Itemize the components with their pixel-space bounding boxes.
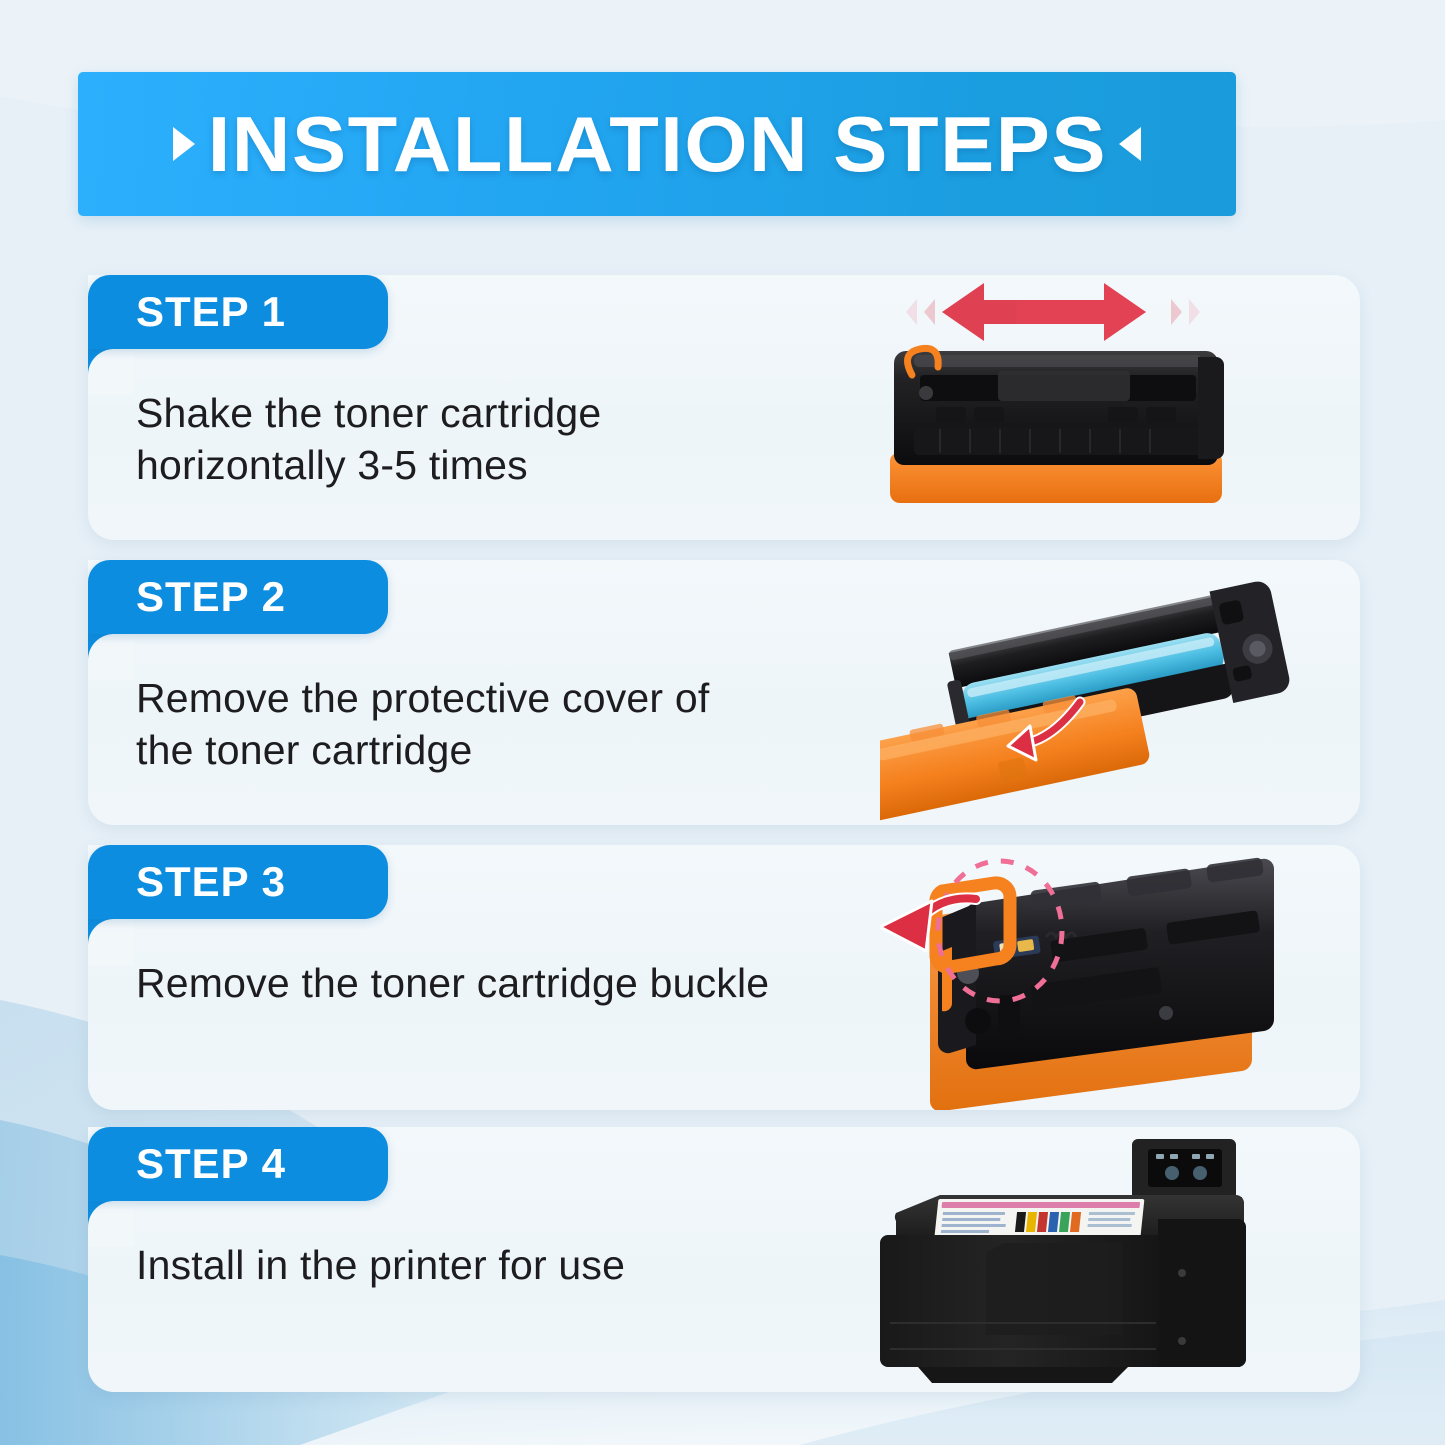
printed-test-page [934,1199,1144,1241]
page-title: INSTALLATION STEPS [207,105,1106,183]
step-tab-label: STEP 1 [88,291,286,333]
step-description: Remove the toner cartridge buckle [136,957,776,1009]
tab-corner-filler [88,919,134,965]
illustration-toner-cartridge-shake [880,275,1360,540]
step-card: STEP 2 Remove the protective cover of th… [88,560,1360,825]
step-tab: STEP 1 [88,275,388,349]
step-tab: STEP 3 [88,845,388,919]
step-description: Install in the printer for use [136,1239,776,1291]
step-block-1: STEP 1 Shake the toner cartridge horizon… [88,275,1360,540]
step-card: STEP 1 Shake the toner cartridge horizon… [88,275,1360,540]
illustration-remove-protective-cover [880,560,1360,825]
triangle-right-icon [173,127,195,161]
infographic-page: INSTALLATION STEPS STEP 1 Shake the tone… [0,0,1445,1445]
step-tab-label: STEP 3 [88,861,286,903]
tab-corner-filler [88,349,134,395]
double-headed-arrow-icon [906,283,1200,341]
illustration-remove-buckle [880,845,1360,1110]
step-block-2: STEP 2 Remove the protective cover of th… [88,560,1360,825]
step-tab-label: STEP 4 [88,1143,286,1185]
step-block-4: STEP 4 Install in the printer for use [88,1127,1360,1392]
step-tab: STEP 2 [88,560,388,634]
step-description: Shake the toner cartridge horizontally 3… [136,387,776,492]
triangle-left-icon [1119,127,1141,161]
step-card: STEP 4 Install in the printer for use [88,1127,1360,1392]
step-tab: STEP 4 [88,1127,388,1201]
step-description: Remove the protective cover of the toner… [136,672,776,777]
illustration-laser-printer [880,1127,1360,1392]
step-tab-label: STEP 2 [88,576,286,618]
banner-installation-steps: INSTALLATION STEPS [78,72,1236,216]
step-block-3: STEP 3 Remove the toner cartridge buckle [88,845,1360,1110]
tab-corner-filler [88,634,134,680]
step-card: STEP 3 Remove the toner cartridge buckle [88,845,1360,1110]
tab-corner-filler [88,1201,134,1247]
